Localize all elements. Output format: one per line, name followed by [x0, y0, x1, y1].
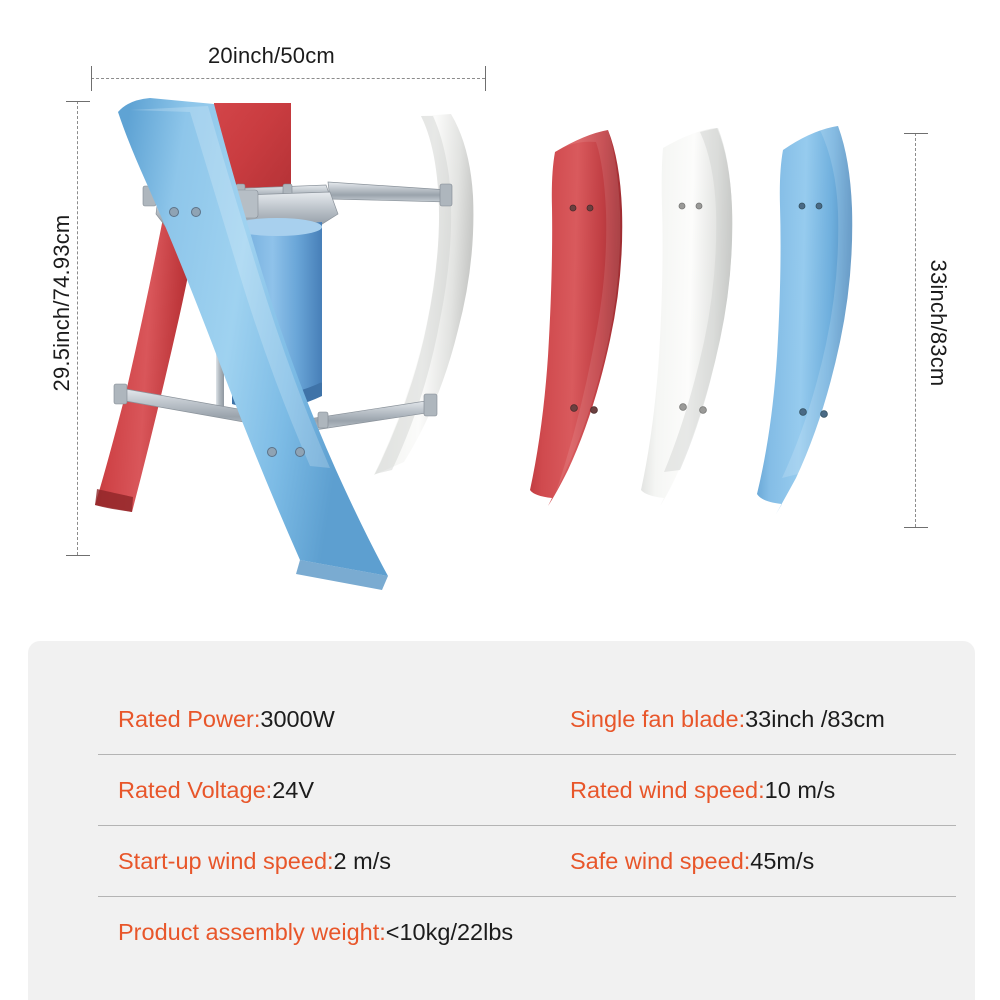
top-dimension-label: 20inch/50cm	[208, 43, 335, 69]
blade-white	[641, 128, 732, 506]
specification-panel: Rated Power: 3000W Single fan blade: 33i…	[28, 641, 975, 1000]
product-photo-area: 20inch/50cm 29.5inch/74.93cm 33inch/83cm	[0, 0, 1000, 641]
left-dimension-cap-top	[66, 101, 90, 102]
spec-label: Product assembly weight	[118, 918, 379, 946]
spec-value: 10 m/s	[765, 776, 836, 804]
spec-row: Rated Power: 3000W Single fan blade: 33i…	[90, 684, 962, 755]
spec-row: Rated Voltage: 24V Rated wind speed :10 …	[90, 755, 962, 826]
spec-label: Single fan blade	[570, 705, 739, 733]
spec-label: Rated Power	[118, 705, 254, 733]
separate-blades-illustration	[0, 0, 1000, 641]
right-dimension-cap-bottom	[904, 527, 928, 528]
blade-red	[530, 130, 622, 506]
spec-item-rated-power: Rated Power: 3000W	[90, 684, 542, 755]
spec-label: Rated Voltage	[118, 776, 266, 804]
right-dimension-label: 33inch/83cm	[925, 203, 951, 443]
spec-value: 45m/s	[750, 847, 814, 875]
spec-value: 2 m/s	[334, 847, 391, 875]
spec-label: Start-up wind speed	[118, 847, 327, 875]
spec-item-rated-voltage: Rated Voltage: 24V	[90, 755, 542, 826]
product-spec-page: 20inch/50cm 29.5inch/74.93cm 33inch/83cm…	[0, 0, 1000, 1000]
specification-table: Rated Power: 3000W Single fan blade: 33i…	[90, 684, 962, 968]
spec-item-startup-wind-speed: Start-up wind speed:2 m/s	[90, 826, 542, 897]
top-dimension-cap-left	[91, 66, 92, 91]
spec-value: <10kg/22lbs	[386, 918, 513, 946]
left-dimension-cap-bottom	[66, 555, 90, 556]
spec-item-product-assembly-weight: Product assembly weight: <10kg/22lbs	[90, 897, 542, 968]
right-dimension-cap-top	[904, 133, 928, 134]
spec-row: Product assembly weight: <10kg/22lbs	[90, 897, 962, 968]
spec-label: Rated wind speed	[570, 776, 758, 804]
spec-value: 24V	[272, 776, 314, 804]
spec-label: Safe wind speed	[570, 847, 744, 875]
spec-value: 3000W	[260, 705, 334, 733]
left-dimension-line	[77, 101, 78, 555]
left-dimension-label: 29.5inch/74.93cm	[49, 183, 75, 423]
spec-row: Start-up wind speed:2 m/s Safe wind spee…	[90, 826, 962, 897]
spec-item-single-fan-blade: Single fan blade: 33inch /83cm	[542, 684, 962, 755]
top-dimension-cap-right	[485, 66, 486, 91]
blade-blue	[757, 126, 854, 514]
spec-item-safe-wind-speed: Safe wind speed: 45m/s	[542, 826, 962, 897]
spec-value: 33inch /83cm	[745, 705, 885, 733]
top-dimension-line	[91, 78, 485, 79]
right-dimension-line	[915, 133, 916, 527]
spec-item-rated-wind-speed: Rated wind speed :10 m/s	[542, 755, 962, 826]
